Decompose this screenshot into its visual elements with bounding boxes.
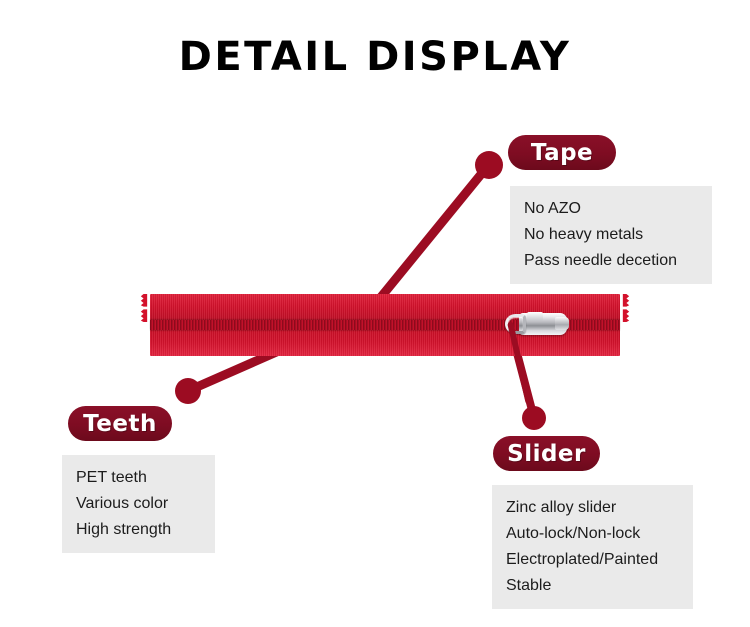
detail-display-page: DETAIL DISPLAY xyxy=(0,0,750,627)
leader-tape xyxy=(372,151,503,308)
zipper-end-right xyxy=(619,294,633,322)
leader-dot-teeth xyxy=(175,378,201,404)
badge-teeth[interactable]: Teeth xyxy=(68,406,172,441)
page-title: DETAIL DISPLAY xyxy=(0,34,750,80)
leader-dot-tape xyxy=(475,151,503,179)
info-box-tape: No AZO No heavy metals Pass needle decet… xyxy=(510,186,712,284)
info-box-teeth: PET teeth Various color High strength xyxy=(62,455,215,553)
info-line: Zinc alloy slider xyxy=(506,495,681,521)
info-line: High strength xyxy=(76,517,203,543)
info-box-slider: Zinc alloy slider Auto-lock/Non-lock Ele… xyxy=(492,485,693,609)
badge-slider[interactable]: Slider xyxy=(493,436,600,471)
info-line: No AZO xyxy=(524,196,700,222)
zipper-end-left xyxy=(137,294,151,322)
info-line: Electroplated/Painted xyxy=(506,547,681,573)
info-line: Stable xyxy=(506,573,681,599)
zipper-icon xyxy=(150,294,620,356)
info-line: No heavy metals xyxy=(524,222,700,248)
info-line: Auto-lock/Non-lock xyxy=(506,521,681,547)
info-line: Pass needle decetion xyxy=(524,248,700,274)
leader-dot-slider xyxy=(522,406,546,430)
slider-crimp xyxy=(527,312,543,321)
slider-nose xyxy=(555,317,569,330)
info-line: Various color xyxy=(76,491,203,517)
badge-tape[interactable]: Tape xyxy=(508,135,616,170)
info-line: PET teeth xyxy=(76,465,203,491)
